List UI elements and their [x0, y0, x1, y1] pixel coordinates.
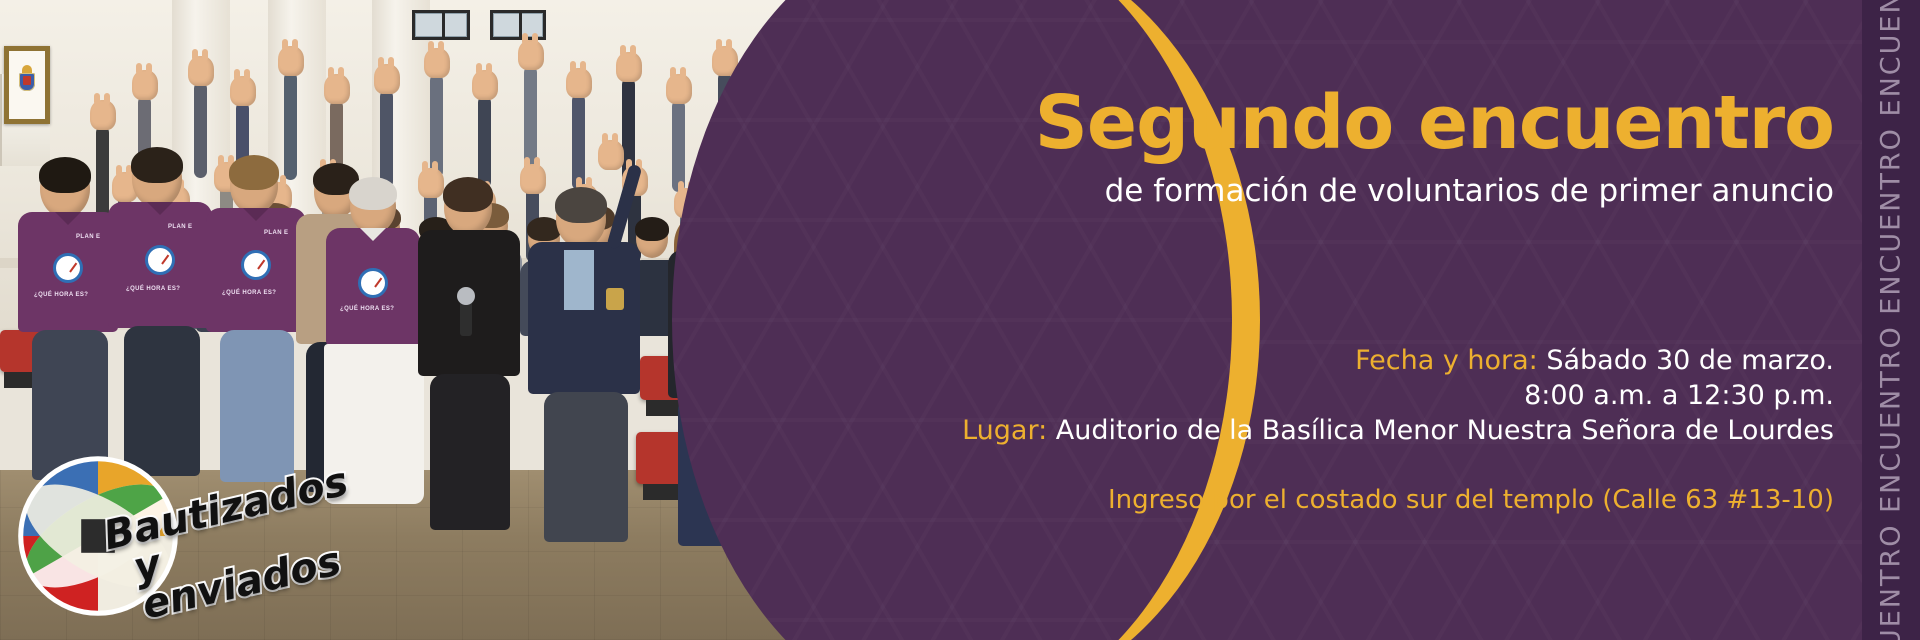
detail-label: Fecha y hora: — [1355, 345, 1538, 376]
detail-label: Lugar: — [962, 415, 1047, 446]
detail-row-date: Fecha y hora: Sábado 30 de marzo. — [0, 343, 1834, 378]
event-banner: PLAN E ¿QUÉ HORA ES? PLAN E ¿QUÉ HORA ES… — [0, 0, 1920, 640]
page-subtitle: de formación de voluntarios de primer an… — [0, 173, 1834, 210]
detail-row-place: Lugar: Auditorio de la Basílica Menor Nu… — [0, 413, 1834, 448]
event-details: Fecha y hora: Sábado 30 de marzo. 8:00 a… — [0, 343, 1834, 448]
detail-value: Auditorio de la Basílica Menor Nuestra S… — [1056, 415, 1834, 446]
side-band-text: ENCUENTRO ENCUENTRO ENCUENTRO ENCUENTRO — [1876, 0, 1907, 640]
panel-content: Segundo encuentro de formación de volunt… — [0, 0, 1862, 640]
detail-value: 8:00 a.m. a 12:30 p.m. — [1524, 380, 1834, 411]
page-title: Segundo encuentro — [0, 86, 1834, 160]
detail-row-time: 8:00 a.m. a 12:30 p.m. — [0, 378, 1834, 413]
side-band: ENCUENTRO ENCUENTRO ENCUENTRO ENCUENTRO — [1862, 0, 1920, 640]
detail-value: Sábado 30 de marzo. — [1546, 345, 1834, 376]
entrance-note: Ingreso por el costado sur del templo (C… — [0, 485, 1834, 515]
